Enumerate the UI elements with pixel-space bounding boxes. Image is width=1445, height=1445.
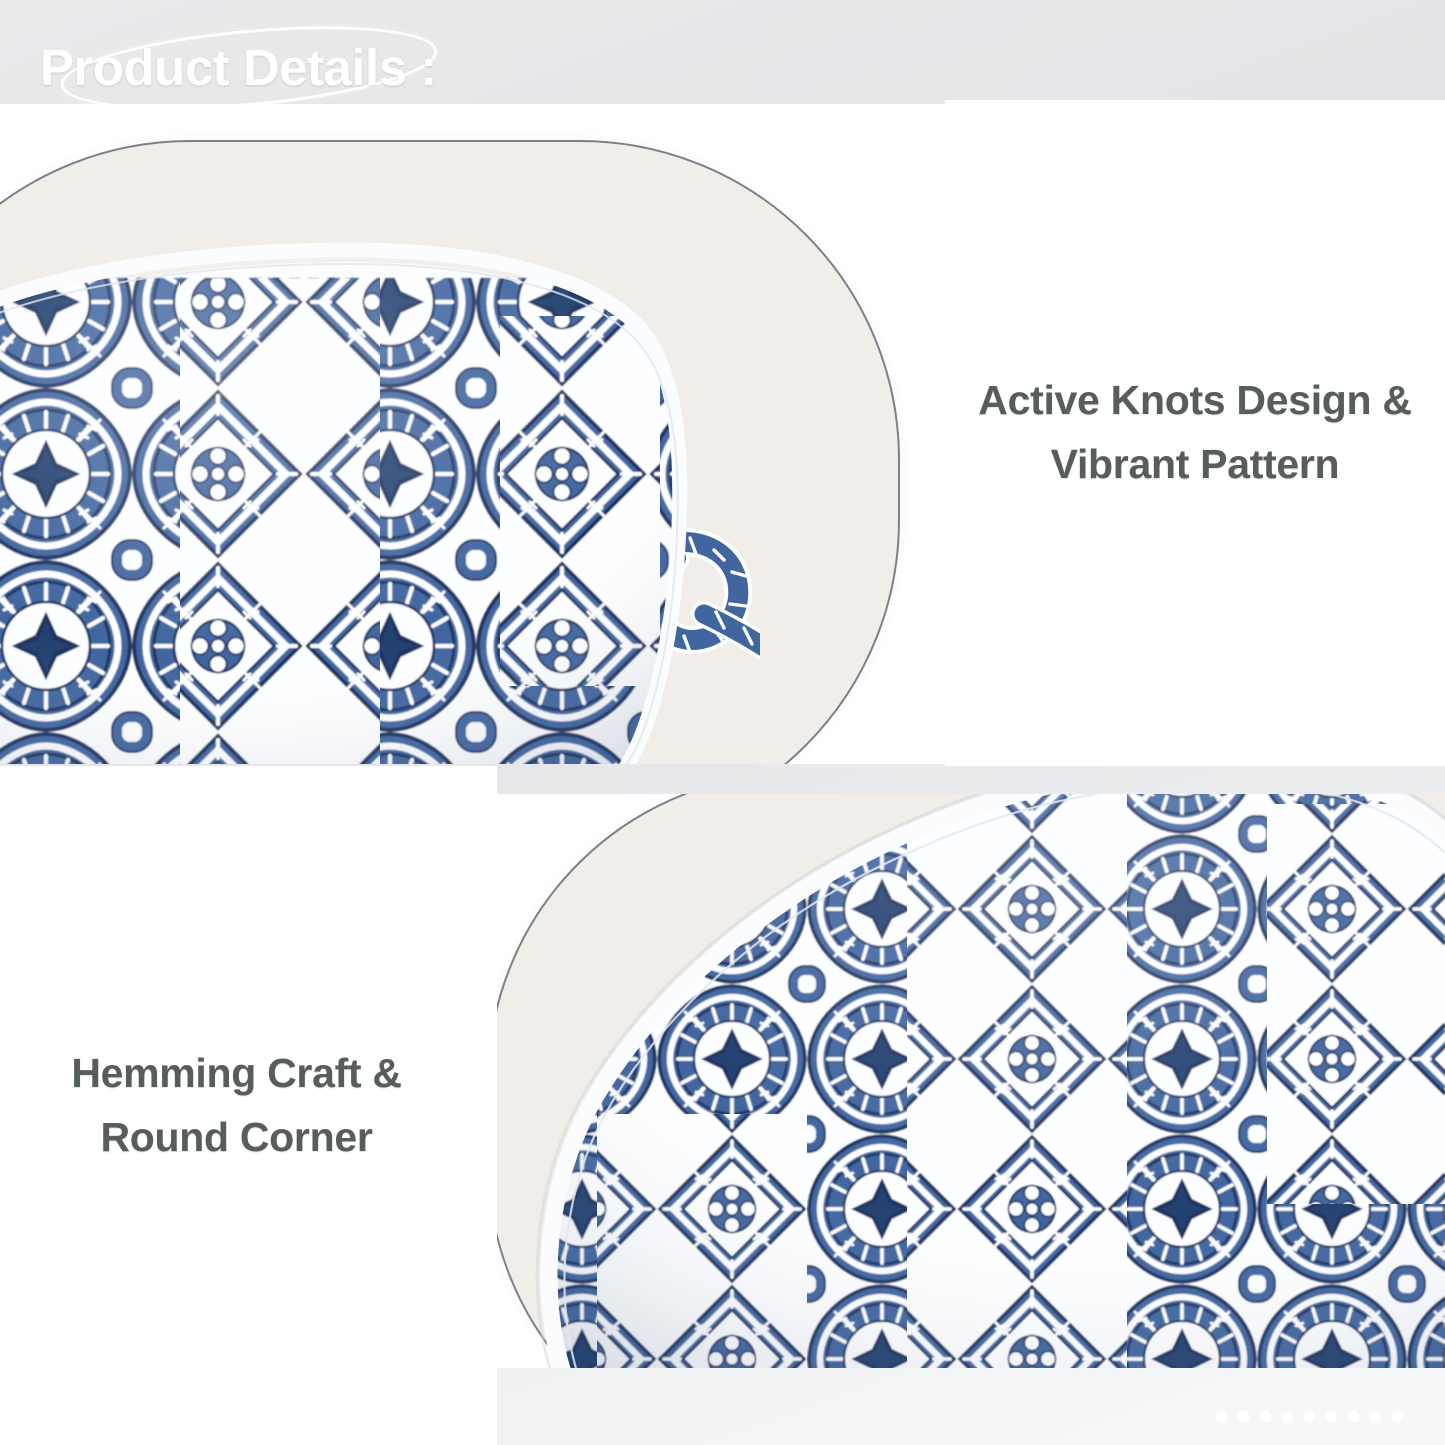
dot [1392, 1411, 1403, 1422]
cushion-with-ties-photo-panel [0, 104, 945, 764]
cushion-body [507, 794, 1445, 1368]
dot [1348, 1411, 1359, 1422]
decorative-dot-row [1216, 1411, 1403, 1422]
dot [1216, 1411, 1227, 1422]
dot [1238, 1411, 1249, 1422]
dot [1326, 1411, 1337, 1422]
dot [1304, 1411, 1315, 1422]
caption-hemming-craft: Hemming Craft & Round Corner [45, 1042, 451, 1169]
page-title-group: Product Details : [34, 24, 454, 110]
caption-line-2: Vibrant Pattern [978, 433, 1411, 497]
caption-active-knots: Active Knots Design & Vibrant Pattern [952, 369, 1437, 496]
caption-line-1: Hemming Craft & [71, 1042, 401, 1106]
page-title: Product Details : [40, 38, 437, 97]
dot [1370, 1411, 1381, 1422]
product-details-page: Product Details : [0, 0, 1445, 1445]
cushion-with-ties-image [0, 216, 760, 764]
round-corner-photo-panel [497, 794, 1445, 1368]
active-knots-caption-card: Active Knots Design & Vibrant Pattern [945, 100, 1445, 766]
dot [1282, 1411, 1293, 1422]
caption-line-2: Round Corner [71, 1106, 401, 1170]
page-header: Product Details : [0, 0, 945, 140]
dot [1260, 1411, 1271, 1422]
cushion-body [0, 216, 760, 764]
hemming-craft-caption-card: Hemming Craft & Round Corner [0, 766, 497, 1445]
cushion-round-corner-image [507, 794, 1445, 1368]
caption-line-1: Active Knots Design & [978, 369, 1411, 433]
